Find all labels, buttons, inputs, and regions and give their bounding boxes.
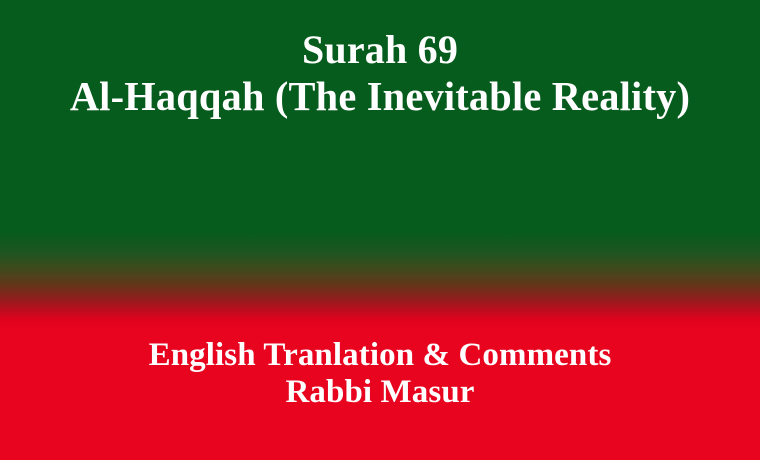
credits-block: English Tranlation & Comments Rabbi Masu… bbox=[0, 337, 760, 411]
title-block: Surah 69 Al-Haqqah (The Inevitable Reali… bbox=[0, 27, 760, 119]
surah-title-card: Surah 69 Al-Haqqah (The Inevitable Reali… bbox=[0, 0, 760, 460]
surah-name-line: Al-Haqqah (The Inevitable Reality) bbox=[6, 73, 755, 119]
surah-number-line: Surah 69 bbox=[0, 27, 760, 73]
credits-translation-line: English Tranlation & Comments bbox=[0, 337, 760, 374]
credits-author-line: Rabbi Masur bbox=[0, 374, 760, 411]
